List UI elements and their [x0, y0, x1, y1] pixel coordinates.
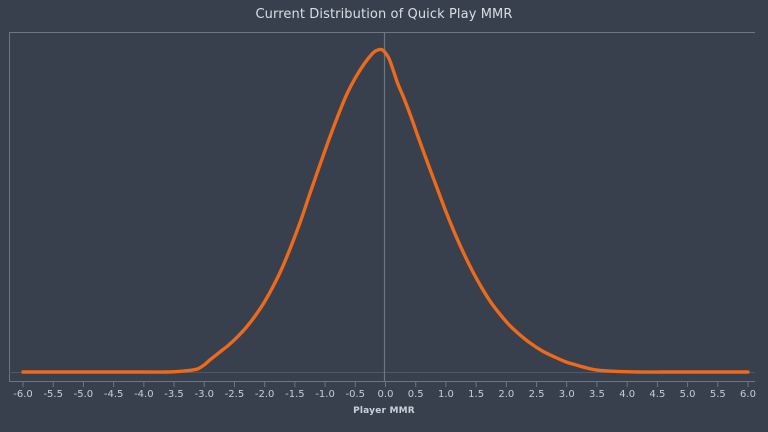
mmr-density-curve [23, 49, 748, 372]
chart-figure: Current Distribution of Quick Play MMR -… [0, 0, 768, 432]
x-axis-label: Player MMR [0, 406, 768, 416]
plot-spines [9, 32, 755, 382]
x-tick-marks [23, 382, 748, 387]
plot-canvas [0, 0, 768, 432]
